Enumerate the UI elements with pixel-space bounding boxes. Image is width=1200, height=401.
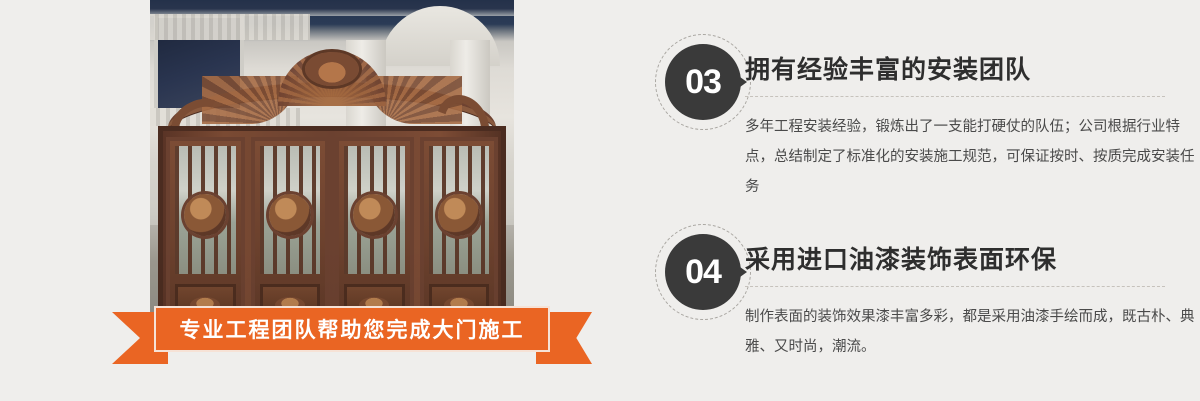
feature-divider bbox=[745, 96, 1165, 97]
feature-body: 制作表面的装饰效果漆丰富多彩，都是采用油漆手绘而成，既古朴、典雅、又时尚，潮流。 bbox=[745, 302, 1195, 362]
gate-leaf bbox=[420, 137, 499, 334]
gate-leaf bbox=[166, 137, 245, 334]
photo-cornice-upper bbox=[150, 14, 310, 40]
badge-circle: 03 bbox=[665, 44, 741, 120]
badge-circle: 04 bbox=[665, 234, 741, 310]
feature-body: 多年工程安装经验，锻炼出了一支能打硬仗的队伍；公司根据行业特点，总结制定了标准化… bbox=[745, 112, 1195, 202]
gate-leaf-balusters bbox=[344, 146, 405, 274]
feature-title: 采用进口油漆装饰表面环保 bbox=[745, 240, 1057, 276]
gate-leaf bbox=[251, 137, 330, 334]
ribbon-label: 专业工程团队帮助您完成大门施工 bbox=[180, 314, 525, 344]
gate-crest-ornament bbox=[168, 48, 496, 134]
feature-badge-04: 04 bbox=[655, 224, 751, 320]
gate-leaf-balusters bbox=[175, 146, 236, 274]
feature-title: 拥有经验丰富的安装团队 bbox=[745, 50, 1031, 86]
feature-badge-03: 03 bbox=[655, 34, 751, 130]
gate-leaf bbox=[335, 137, 414, 334]
gate-leaf-balusters bbox=[429, 146, 490, 274]
gate-leaf-balusters bbox=[260, 146, 321, 274]
promo-banner: 专业工程团队帮助您完成大门施工 03 拥有经验丰富的安装团队 多年工程安装经验，… bbox=[0, 0, 1200, 401]
gate-crest-medallion bbox=[305, 52, 359, 86]
feature-number: 03 bbox=[685, 63, 721, 102]
feature-list: 03 拥有经验丰富的安装团队 多年工程安装经验，锻炼出了一支能打硬仗的队伍；公司… bbox=[655, 0, 1200, 401]
ribbon-body: 专业工程团队帮助您完成大门施工 bbox=[154, 306, 550, 352]
ribbon-banner: 专业工程团队帮助您完成大门施工 bbox=[112, 312, 592, 364]
feature-divider bbox=[745, 286, 1165, 287]
gate-photo bbox=[150, 0, 514, 345]
photo-gate bbox=[150, 48, 514, 345]
feature-number: 04 bbox=[685, 253, 721, 292]
